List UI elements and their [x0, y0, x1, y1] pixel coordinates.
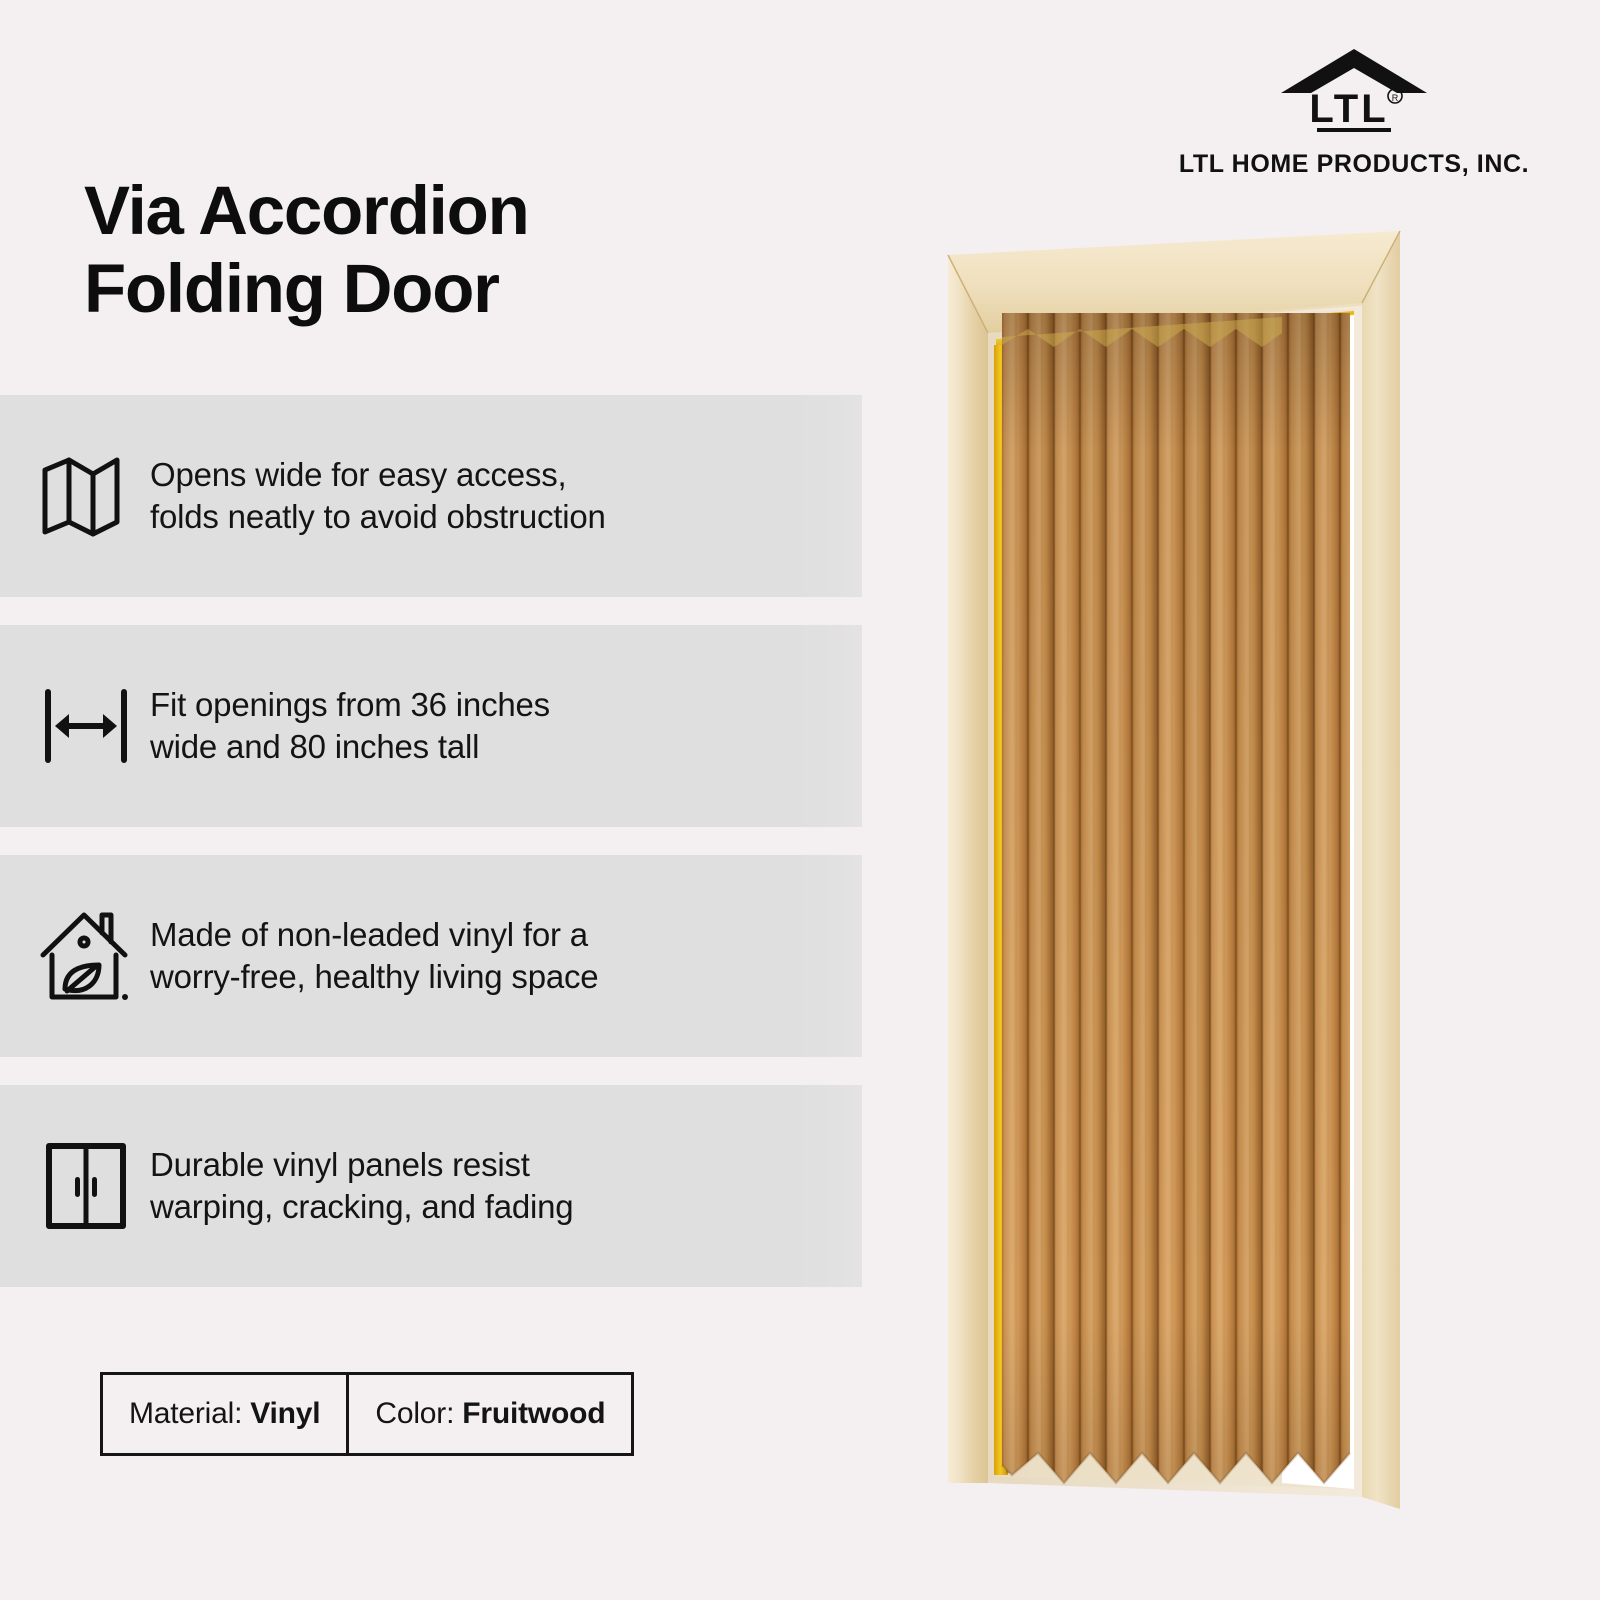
brand-logo: LTL R LTL HOME PRODUCTS, INC. [1194, 46, 1514, 179]
spec-value-material: Vinyl [242, 1397, 320, 1431]
feature-row: Made of non-leaded vinyl for a worry-fre… [0, 855, 862, 1057]
feature-row: Fit openings from 36 inches wide and 80 … [0, 625, 862, 827]
specification-box: Material: Vinyl Color: Fruitwood [100, 1372, 634, 1456]
feature-text-line2: worry-free, healthy living space [150, 956, 598, 998]
eco-house-leaf-icon [0, 909, 150, 1003]
spec-value-color: Fruitwood [454, 1397, 605, 1431]
spec-cell-color: Color: Fruitwood [346, 1375, 631, 1453]
double-door-icon [0, 1140, 150, 1232]
ltl-roof-logo-icon: LTL R [1279, 46, 1429, 138]
feature-text-line2: wide and 80 inches tall [150, 726, 550, 768]
page-title-line2: Folding Door [84, 250, 784, 328]
feature-text: Opens wide for easy access, folds neatly… [150, 454, 630, 537]
folded-map-icon [0, 454, 150, 538]
feature-text: Made of non-leaded vinyl for a worry-fre… [150, 914, 622, 997]
feature-text-line1: Made of non-leaded vinyl for a [150, 914, 598, 956]
spec-label-color: Color: [375, 1397, 454, 1431]
spec-cell-material: Material: Vinyl [103, 1375, 346, 1453]
feature-text-line1: Durable vinyl panels resist [150, 1144, 573, 1186]
svg-text:LTL: LTL [1309, 87, 1388, 131]
page-title: Via Accordion Folding Door [84, 172, 784, 328]
brand-company-name: LTL HOME PRODUCTS, INC. [1179, 150, 1529, 179]
page-title-line1: Via Accordion [84, 172, 784, 250]
feature-text-line2: warping, cracking, and fading [150, 1186, 573, 1228]
spec-label-material: Material: [129, 1397, 242, 1431]
feature-row: Durable vinyl panels resist warping, cra… [0, 1085, 862, 1287]
feature-text: Fit openings from 36 inches wide and 80 … [150, 684, 574, 767]
feature-text-line1: Opens wide for easy access, [150, 454, 606, 496]
feature-text: Durable vinyl panels resist warping, cra… [150, 1144, 597, 1227]
width-measure-icon [0, 684, 150, 768]
feature-row: Opens wide for easy access, folds neatly… [0, 395, 862, 597]
feature-list: Opens wide for easy access, folds neatly… [0, 395, 862, 1315]
accordion-folding-door-photo [930, 225, 1490, 1510]
svg-text:R: R [1392, 93, 1399, 103]
feature-text-line2: folds neatly to avoid obstruction [150, 496, 606, 538]
feature-text-line1: Fit openings from 36 inches [150, 684, 550, 726]
